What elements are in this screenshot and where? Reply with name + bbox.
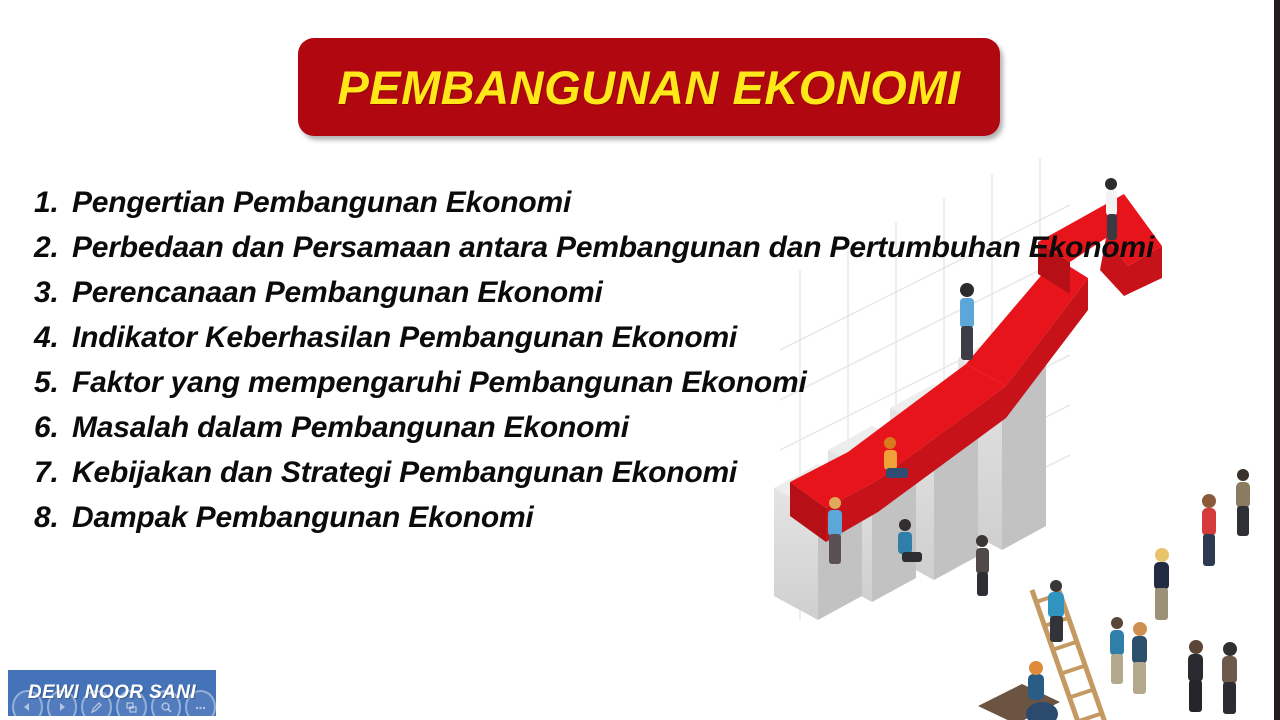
list-item-number: 7. — [34, 450, 72, 495]
slide-title-banner: PEMBANGUNAN EKONOMI — [298, 38, 1000, 136]
list-item-label: Faktor yang mempengaruhi Pembangunan Eko… — [72, 360, 1164, 405]
list-item-number: 8. — [34, 495, 72, 540]
list-item-label: Perbedaan dan Persamaan antara Pembangun… — [72, 225, 1164, 270]
list-item: 7. Kebijakan dan Strategi Pembangunan Ek… — [34, 450, 1164, 495]
figure-red-top — [1202, 494, 1216, 566]
presentation-slide: PEMBANGUNAN EKONOMI 1. Pengertian Pemban… — [0, 0, 1280, 720]
list-item-label: Kebijakan dan Strategi Pembangunan Ekono… — [72, 450, 1164, 495]
list-item: 2. Perbedaan dan Persamaan antara Pemban… — [34, 225, 1164, 270]
author-name: DEWI NOOR SANI — [28, 682, 196, 704]
list-item-number: 6. — [34, 405, 72, 450]
list-item-label: Indikator Keberhasilan Pembangunan Ekono… — [72, 315, 1164, 360]
list-item-label: Perencanaan Pembangunan Ekonomi — [72, 270, 1164, 315]
list-item-number: 4. — [34, 315, 72, 360]
list-item-number: 3. — [34, 270, 72, 315]
list-item: 8. Dampak Pembangunan Ekonomi — [34, 495, 1164, 540]
list-item: 6. Masalah dalam Pembangunan Ekonomi — [34, 405, 1164, 450]
topic-list: 1. Pengertian Pembangunan Ekonomi 2. Per… — [34, 180, 1164, 540]
figure-dark-suit-left — [1188, 640, 1203, 712]
desk-worker — [978, 661, 1060, 720]
right-edge-strip — [1274, 0, 1280, 720]
list-item: 3. Perencanaan Pembangunan Ekonomi — [34, 270, 1164, 315]
list-item: 5. Faktor yang mempengaruhi Pembangunan … — [34, 360, 1164, 405]
person-on-ladder — [1048, 580, 1064, 642]
figure-top-right-khaki — [1236, 469, 1250, 536]
list-item-label: Masalah dalam Pembangunan Ekonomi — [72, 405, 1164, 450]
ellipsis-icon — [194, 701, 207, 714]
figure-khaki-pants — [1132, 622, 1147, 694]
list-item: 4. Indikator Keberhasilan Pembangunan Ek… — [34, 315, 1164, 360]
list-item: 1. Pengertian Pembangunan Ekonomi — [34, 180, 1164, 225]
list-item-number: 1. — [34, 180, 72, 225]
list-item-number: 5. — [34, 360, 72, 405]
page-title: PEMBANGUNAN EKONOMI — [337, 64, 960, 111]
list-item-label: Dampak Pembangunan Ekonomi — [72, 495, 1164, 540]
person-on-tall-bar — [976, 535, 989, 596]
list-item-label: Pengertian Pembangunan Ekonomi — [72, 180, 1164, 225]
list-item-number: 2. — [34, 225, 72, 270]
figure-brown-coat — [1222, 642, 1237, 714]
figure-navy-jacket — [1154, 548, 1169, 620]
figure-blue-top-right — [1110, 617, 1124, 684]
